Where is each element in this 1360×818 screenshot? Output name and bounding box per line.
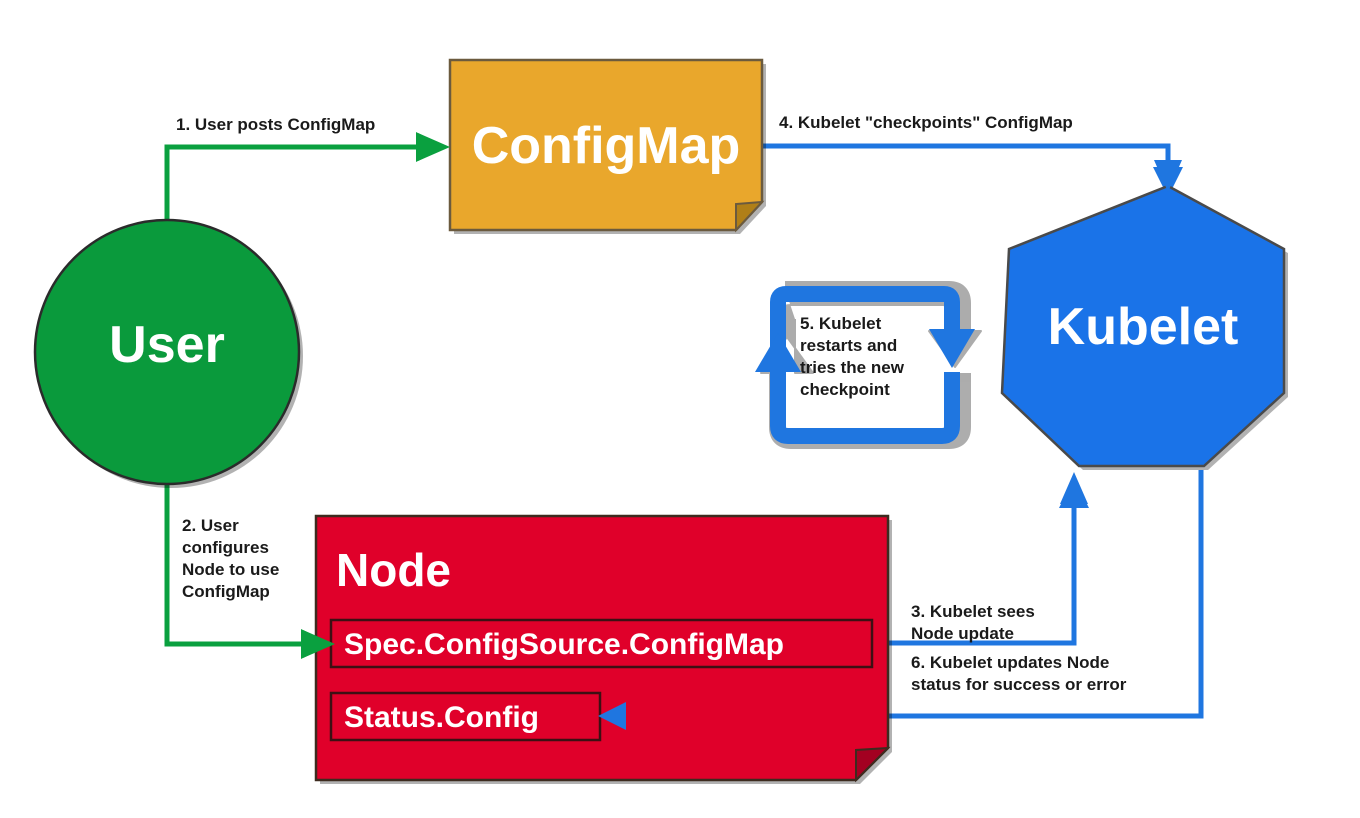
node-node[interactable]: Node Spec.ConfigSource.ConfigMap Status.… — [316, 516, 892, 784]
configmap-node[interactable]: ConfigMap — [450, 60, 766, 234]
edge-5-label-line-3: tries the new — [800, 358, 905, 377]
diagram-canvas: 1. User posts ConfigMap 2. User configur… — [0, 0, 1360, 818]
flow-diagram: 1. User posts ConfigMap 2. User configur… — [0, 0, 1360, 818]
edge-3-label-line-1: 3. Kubelet sees — [911, 602, 1035, 621]
status-config-label: Status.Config — [344, 701, 539, 734]
edge-5-label-line-2: restarts and — [800, 336, 897, 355]
node-field-status-config[interactable]: Status.Config — [331, 693, 600, 740]
edge-1-label: 1. User posts ConfigMap — [176, 115, 375, 134]
node-field-spec-configsource-configmap[interactable]: Spec.ConfigSource.ConfigMap — [331, 620, 872, 667]
user-label: User — [109, 316, 225, 374]
edge-6-label-line-1: 6. Kubelet updates Node — [911, 653, 1109, 672]
edge-2-label-line-2: configures — [182, 538, 269, 557]
user-node[interactable]: User — [35, 220, 303, 488]
spec-configsource-configmap-label: Spec.ConfigSource.ConfigMap — [344, 628, 784, 661]
edge-2-label-line-1: 2. User — [182, 516, 239, 535]
kubelet-label: Kubelet — [1048, 298, 1239, 356]
node-label: Node — [336, 544, 451, 596]
edge-6-label-line-2: status for success or error — [911, 675, 1127, 694]
edge-4-label: 4. Kubelet "checkpoints" ConfigMap — [779, 113, 1073, 132]
edge-2-label-line-4: ConfigMap — [182, 582, 270, 601]
edge-2-label-line-3: Node to use — [182, 560, 279, 579]
edge-3-label-line-2: Node update — [911, 624, 1014, 643]
edge-5-label-line-4: checkpoint — [800, 380, 890, 399]
edge-5-label-line-1: 5. Kubelet — [800, 314, 882, 333]
configmap-label: ConfigMap — [472, 117, 741, 175]
